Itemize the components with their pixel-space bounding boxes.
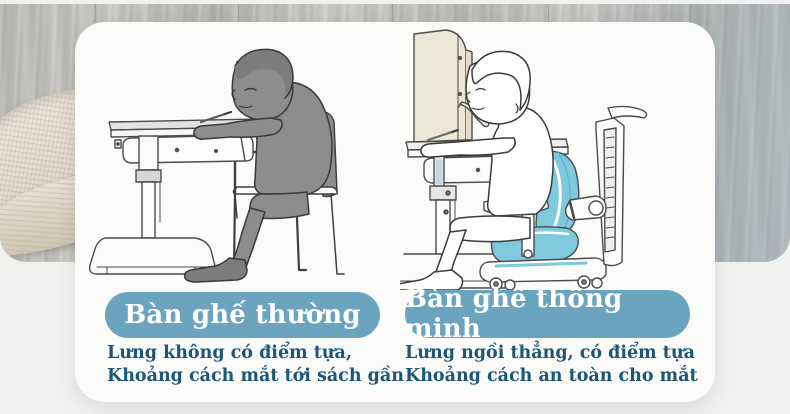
caption-ordinary-line-1: Lưng không có điểm tựa, — [107, 342, 404, 365]
caption-ordinary: Lưng không có điểm tựa, Khoảng cách mắt … — [107, 342, 404, 388]
illustration-smart-desk — [400, 22, 710, 290]
comparison-infographic: Bàn ghế thường Bàn ghế thông minh Lưng k… — [0, 0, 790, 414]
illustrations-row — [75, 22, 715, 290]
label-pill-smart[interactable]: Bàn ghế thông minh — [405, 290, 690, 338]
illustration-ordinary-desk — [85, 22, 395, 290]
label-pill-ordinary[interactable]: Bàn ghế thường — [105, 292, 380, 338]
content-card: Bàn ghế thường Bàn ghế thông minh Lưng k… — [75, 22, 715, 402]
caption-smart-line-1: Lưng ngồi thẳng, có điểm tựa — [405, 342, 698, 365]
caption-ordinary-line-2: Khoảng cách mắt tới sách gần — [107, 365, 404, 388]
caption-smart: Lưng ngồi thẳng, có điểm tựa Khoảng cách… — [405, 342, 698, 388]
caption-smart-line-2: Khoảng cách an toàn cho mắt — [405, 365, 698, 388]
